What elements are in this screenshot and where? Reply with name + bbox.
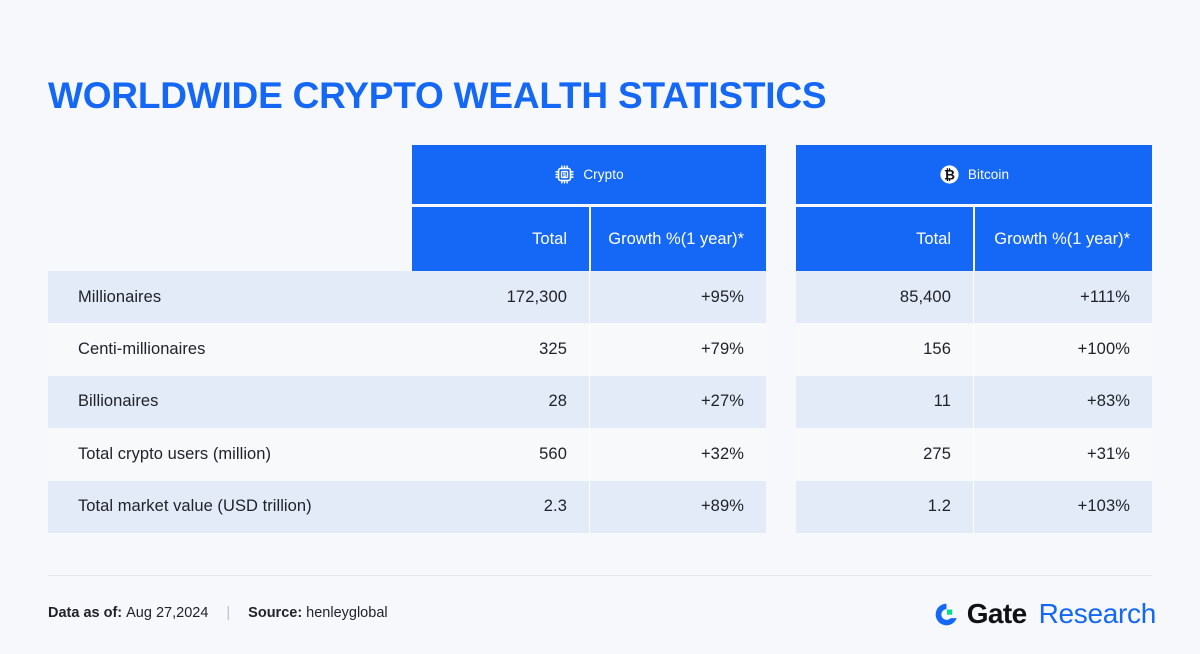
cell-bitcoin-total: 156 [796,323,973,375]
subheader-crypto-growth: Growth %(1 year)* [589,207,766,271]
cell-bitcoin-total: 11 [796,376,973,428]
data-as-of-value: Aug 27,2024 [126,605,208,621]
source-label: Source: [248,605,302,621]
svg-text:₿: ₿ [944,167,955,183]
table-row: Centi-millionaires 325 +79% 156 +100% [48,323,1152,375]
subheader-bitcoin-total: Total [796,207,973,271]
row-group-gap [766,428,796,480]
cell-bitcoin-total: 85,400 [796,271,973,323]
cell-crypto-total: 560 [412,428,589,480]
row-label: Total market value (USD trillion) [48,481,412,533]
row-group-gap [766,376,796,428]
cell-crypto-growth: +32% [589,428,766,480]
cell-crypto-growth: +27% [589,376,766,428]
cell-bitcoin-growth: +83% [973,376,1152,428]
column-group-crypto-label: Crypto [583,167,623,182]
gate-research-logo: Gate Research [933,598,1156,630]
footer-separator: | [226,605,230,621]
data-as-of-label: Data as of: [48,605,122,621]
cell-bitcoin-total: 1.2 [796,481,973,533]
table-row: Billionaires 28 +27% 11 +83% [48,376,1152,428]
cell-bitcoin-growth: +100% [973,323,1152,375]
subheader-empty-corner [48,207,412,271]
footer-divider [48,575,1152,576]
cell-crypto-total: 28 [412,376,589,428]
statistics-table-container: $ Crypto [48,145,1152,533]
crypto-wealth-statistics-table: $ Crypto [48,145,1152,533]
row-group-gap [766,481,796,533]
row-group-gap [766,271,796,323]
subheader-bitcoin-growth: Growth %(1 year)* [973,207,1152,271]
table-row: Total market value (USD trillion) 2.3 +8… [48,481,1152,533]
table-subheader-row: Total Growth %(1 year)* Total Growth %(1… [48,207,1152,271]
cell-crypto-total: 172,300 [412,271,589,323]
column-group-bitcoin: ₿ Bitcoin [796,145,1152,207]
header-empty-corner [48,145,412,207]
table-header: $ Crypto [48,145,1152,271]
subheader-crypto-total: Total [412,207,589,271]
header-group-gap [766,145,796,207]
column-group-bitcoin-label: Bitcoin [968,167,1009,182]
row-group-gap [766,323,796,375]
row-label: Total crypto users (million) [48,428,412,480]
svg-text:$: $ [563,172,567,179]
logo-text-gate: Gate [967,598,1027,630]
cell-crypto-total: 325 [412,323,589,375]
cell-bitcoin-total: 275 [796,428,973,480]
page-title: WORLDWIDE CRYPTO WEALTH STATISTICS [48,75,826,117]
cell-bitcoin-growth: +31% [973,428,1152,480]
source-value: henleyglobal [306,605,387,621]
row-label: Billionaires [48,376,412,428]
cell-crypto-growth: +79% [589,323,766,375]
bitcoin-icon: ₿ [939,164,960,185]
cell-crypto-growth: +95% [589,271,766,323]
column-group-crypto: $ Crypto [412,145,766,207]
microchip-dollar-icon: $ [554,164,575,185]
table-group-header-row: $ Crypto [48,145,1152,207]
subheader-group-gap [766,207,796,271]
cell-bitcoin-growth: +111% [973,271,1152,323]
cell-crypto-growth: +89% [589,481,766,533]
footer-meta: Data as of: Aug 27,2024 | Source: henley… [48,605,388,621]
table-row: Total crypto users (million) 560 +32% 27… [48,428,1152,480]
cell-crypto-total: 2.3 [412,481,589,533]
cell-bitcoin-growth: +103% [973,481,1152,533]
gate-logo-mark-icon [933,601,960,628]
logo-text-research: Research [1039,598,1156,630]
table-body: Millionaires 172,300 +95% 85,400 +111% C… [48,271,1152,533]
row-label: Centi-millionaires [48,323,412,375]
table-row: Millionaires 172,300 +95% 85,400 +111% [48,271,1152,323]
row-label: Millionaires [48,271,412,323]
